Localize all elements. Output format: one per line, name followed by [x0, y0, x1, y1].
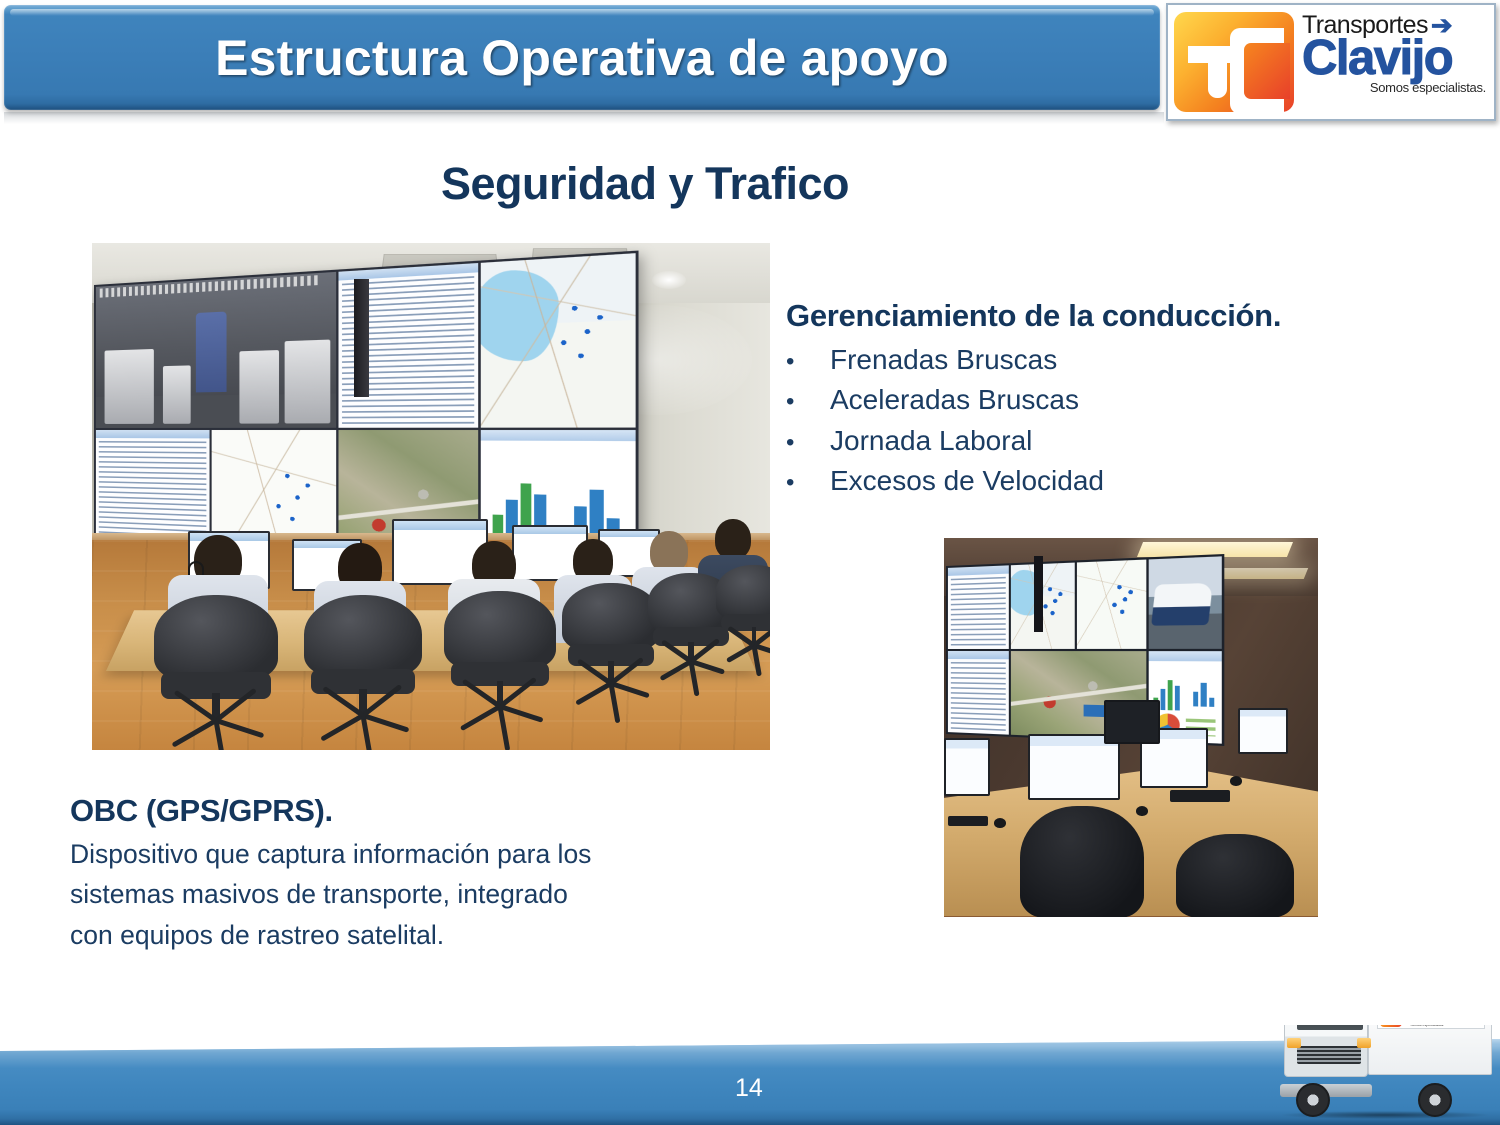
logo-t-stem: [1208, 46, 1227, 98]
mouse: [1136, 806, 1148, 816]
list-item-label: Aceleradas Bruscas: [830, 380, 1079, 420]
dashboard-bar-chart-secondary: [1193, 679, 1214, 707]
map-vehicle-pins: [480, 253, 635, 427]
table-title-bar: [948, 651, 1008, 659]
cctv-machine: [239, 350, 279, 423]
bullet-icon: •: [786, 426, 830, 461]
list-item: • Excesos de Velocidad: [786, 461, 1426, 501]
truck-logo-tc-icon: [1380, 1025, 1402, 1027]
video-wall-route-map: [1077, 560, 1146, 649]
workstation-monitor: [1238, 708, 1288, 754]
office-chair: [716, 565, 770, 659]
truck-illustration: Transportes Clavijo Somos especialistas.: [1278, 1025, 1492, 1119]
mouse: [994, 818, 1006, 828]
bullet-icon: •: [786, 385, 830, 420]
truck-grille: [1297, 1046, 1361, 1064]
truck-windshield: [1297, 1025, 1363, 1030]
chair-base: [568, 681, 654, 701]
list-item-label: Frenadas Bruscas: [830, 340, 1057, 380]
ceiling-light: [652, 271, 686, 289]
table-rows: [951, 662, 1005, 732]
operator-head: [715, 519, 751, 559]
cctv-machine: [105, 349, 154, 424]
page-number: 14: [735, 1074, 763, 1103]
video-wall-data-table: [948, 565, 1008, 649]
chair-backrest: [716, 565, 770, 620]
list-item-label: Jornada Laboral: [830, 421, 1032, 461]
chair-backrest: [444, 591, 556, 670]
dashboard-title-bar: [1148, 651, 1222, 661]
table-rows: [951, 577, 1005, 647]
table-title-bar: [948, 565, 1008, 576]
truck-wheel: [1296, 1083, 1330, 1117]
headset-icon: [188, 561, 204, 575]
driving-management-heading: Gerenciamiento de la conducción.: [786, 298, 1426, 334]
office-chair: [444, 591, 556, 727]
chair-base: [311, 713, 415, 737]
vehicle-image: [1151, 582, 1213, 625]
video-wall-cctv-feed: [96, 272, 336, 428]
obc-paragraph-line: Dispositivo que captura información para…: [70, 834, 676, 874]
obc-paragraph-line: con equipos de rastreo satelital.: [70, 915, 676, 955]
video-wall-map: [480, 253, 635, 427]
map-vehicle-pins: [1077, 560, 1146, 649]
company-logo: Transportes➔ Clavijo Somos especialistas…: [1166, 3, 1496, 121]
workstation-monitor-back: [1104, 700, 1160, 744]
bullet-icon: •: [786, 466, 830, 501]
bullet-icon: •: [786, 345, 830, 380]
obc-block: OBC (GPS/GPRS). Dispositivo que captura …: [70, 793, 676, 955]
chair-base: [451, 704, 550, 727]
chair-base: [721, 643, 770, 659]
obc-paragraph: Dispositivo que captura información para…: [70, 834, 676, 955]
satellite-road: [338, 498, 477, 521]
office-chair: [562, 583, 660, 701]
obc-paragraph-line: sistemas masivos de transporte, integrad…: [70, 874, 676, 914]
truck-cargo-box: Transportes Clavijo Somos especialistas.: [1368, 1025, 1492, 1075]
truck-logo-tagline: Somos especialistas.: [1405, 1025, 1444, 1028]
logo-tc-monogram-icon: [1174, 12, 1294, 112]
header-banner-shadow: [4, 112, 1164, 124]
cctv-machine: [163, 365, 191, 424]
truck-headlamp: [1357, 1038, 1371, 1048]
truck-wheel: [1418, 1083, 1452, 1117]
cctv-person: [196, 312, 227, 393]
chair-base: [161, 718, 270, 743]
truck-cab: [1284, 1025, 1368, 1077]
photo-control-room-operators: [92, 243, 770, 750]
table-title-bar: [96, 430, 209, 438]
keyboard: [948, 816, 988, 826]
office-chair: [154, 595, 278, 743]
page-title: Estructura Operativa de apoyo: [4, 5, 1160, 110]
mouse: [1230, 776, 1242, 786]
video-wall-vehicle-photo: [1148, 556, 1222, 649]
footer: 14 Transportes Clavijo Somos especialist…: [0, 1025, 1500, 1125]
office-chair: [1020, 806, 1144, 917]
wall-pillar: [354, 279, 369, 397]
logo-c-inner: [1244, 43, 1290, 99]
logo-wordmark: Transportes➔ Clavijo Somos especialistas…: [1294, 5, 1494, 119]
office-chair: [1176, 834, 1294, 917]
keyboard: [1170, 790, 1230, 802]
truck-logo-wordmark: Transportes Clavijo Somos especialistas.: [1405, 1025, 1444, 1028]
photo-control-room-workstations: [944, 538, 1318, 917]
satellite-building: [1084, 705, 1106, 717]
chair-backrest: [154, 595, 278, 681]
chair-base: [653, 659, 729, 677]
video-wall-data-table: [948, 651, 1008, 735]
chair-backrest: [304, 595, 422, 677]
logo-line-clavijo: Clavijo: [1302, 36, 1486, 81]
list-item: • Jornada Laboral: [786, 421, 1426, 461]
list-item: • Aceleradas Bruscas: [786, 380, 1426, 420]
chair-backrest: [562, 583, 660, 651]
driving-management-block: Gerenciamiento de la conducción. • Frena…: [786, 298, 1426, 501]
obc-heading: OBC (GPS/GPRS).: [70, 793, 676, 829]
dashboard-title-bar: [480, 430, 635, 441]
truck-logo: Transportes Clavijo Somos especialistas.: [1377, 1025, 1485, 1029]
truck-headlamp: [1287, 1038, 1301, 1048]
office-chair: [304, 595, 422, 737]
slide-heading: Seguridad y Trafico: [0, 158, 1290, 210]
list-item: • Frenadas Bruscas: [786, 340, 1426, 380]
cctv-machine: [284, 339, 331, 423]
workstation-monitor: [944, 738, 990, 796]
list-item-label: Excesos de Velocidad: [830, 461, 1104, 501]
wall-pillar: [1034, 556, 1043, 632]
video-wall: [946, 554, 1224, 746]
